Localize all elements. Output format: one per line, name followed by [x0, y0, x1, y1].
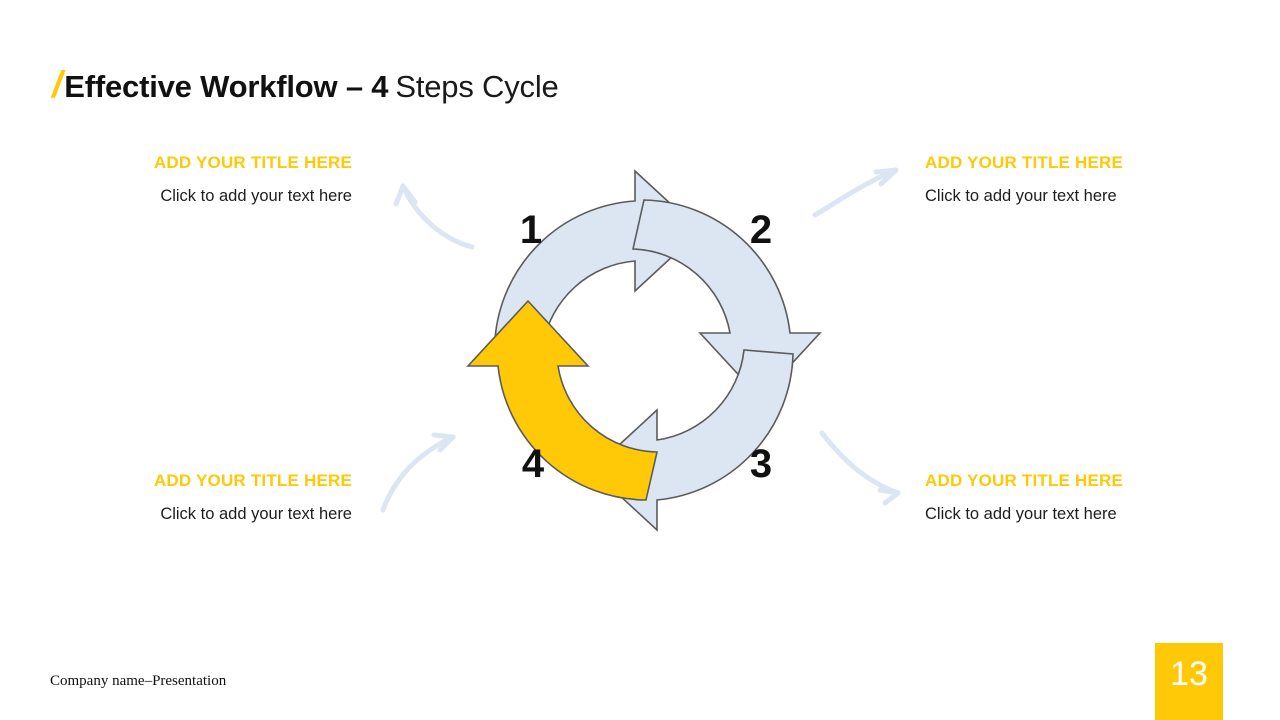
callout-step-2[interactable]: ADD YOUR TITLE HERE Click to add your te… [925, 153, 1225, 206]
connector-arrow-3 [822, 433, 898, 503]
segment-number-2: 2 [750, 208, 772, 252]
page-number: 13 [1155, 657, 1223, 691]
page-number-badge: 13 [1155, 643, 1223, 720]
callout-step-4[interactable]: ADD YOUR TITLE HERE Click to add your te… [52, 471, 352, 524]
footer-company-name: Company name–Presentation [50, 673, 226, 690]
callout-title-4[interactable]: ADD YOUR TITLE HERE [52, 471, 352, 491]
callout-text-3[interactable]: Click to add your text here [925, 505, 1225, 524]
callout-title-2[interactable]: ADD YOUR TITLE HERE [925, 153, 1225, 173]
callout-text-4[interactable]: Click to add your text here [52, 505, 352, 524]
slide-canvas: / Effective Workflow – 4 Steps Cycle ADD… [0, 0, 1280, 720]
segment-number-3: 3 [750, 442, 772, 486]
callout-title-1[interactable]: ADD YOUR TITLE HERE [52, 153, 352, 173]
segment-number-4: 4 [522, 442, 545, 486]
page-title-bold: Effective Workflow – 4 [64, 69, 388, 105]
segment-number-1: 1 [520, 208, 542, 252]
callout-text-1[interactable]: Click to add your text here [52, 187, 352, 206]
page-title-light: Steps Cycle [395, 69, 558, 105]
cycle-diagram: 1 2 3 4 [345, 110, 945, 590]
callout-step-3[interactable]: ADD YOUR TITLE HERE Click to add your te… [925, 471, 1225, 524]
connector-arrow-1 [396, 186, 472, 247]
callout-title-3[interactable]: ADD YOUR TITLE HERE [925, 471, 1225, 491]
callout-step-1[interactable]: ADD YOUR TITLE HERE Click to add your te… [52, 153, 352, 206]
connector-arrow-2 [815, 170, 896, 215]
segment-3-arrow[interactable] [592, 350, 793, 530]
page-title: / Effective Workflow – 4 Steps Cycle [52, 66, 559, 112]
connector-arrow-4 [383, 435, 453, 510]
callout-text-2[interactable]: Click to add your text here [925, 187, 1225, 206]
title-slash-icon: / [52, 66, 62, 103]
